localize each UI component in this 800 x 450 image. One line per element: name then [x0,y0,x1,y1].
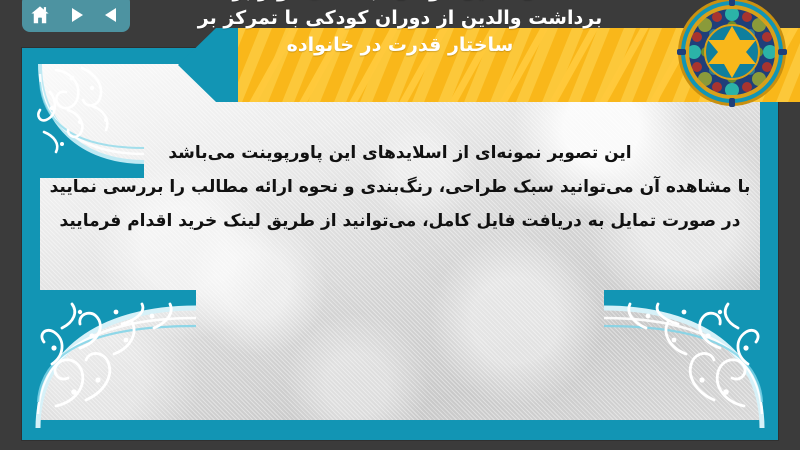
body-line: در صورت تمایل به دریافت فایل کامل، می‌تو… [48,204,752,238]
home-icon [29,4,51,26]
body-line: این تصویر نمونه‌ای از اسلایدهای این پاور… [48,136,752,170]
persian-medallion-icon [676,0,788,108]
triangle-right-icon [66,5,86,25]
slide-frame: این تصویر نمونه‌ای از اسلایدهای این پاور… [22,48,778,440]
previous-slide-button[interactable] [98,2,126,28]
texture-overlay [40,64,760,420]
next-slide-button[interactable] [62,2,90,28]
home-button[interactable] [26,2,54,28]
triangle-left-icon [102,5,122,25]
slide-canvas [40,64,760,420]
viewer-navigation-bar [22,0,130,32]
title-line: کامل تحلیل عوامل اجتماعی مؤثر بر [232,0,567,5]
slide-viewer: این تصویر نمونه‌ای از اسلایدهای این پاور… [0,0,800,450]
body-line: با مشاهده آن می‌توانید سبک طراحی، رنگ‌بن… [48,170,752,204]
slide-body-text: این تصویر نمونه‌ای از اسلایدهای این پاور… [48,136,752,238]
